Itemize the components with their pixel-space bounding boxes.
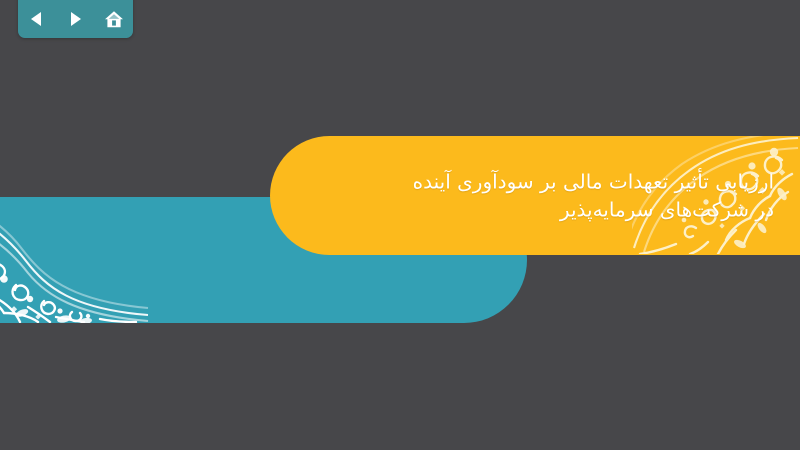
slide-title: ارزیابی تأثیر تعهدات مالی بر سودآوری آین…	[340, 167, 774, 224]
back-triangle-icon	[28, 10, 46, 28]
slide-title-line-2: در شرکت‌های سرمایه‌پذیر	[340, 196, 774, 224]
home-button[interactable]	[101, 7, 127, 31]
slide-title-line-1: ارزیابی تأثیر تعهدات مالی بر سودآوری آین…	[340, 167, 774, 195]
forward-triangle-icon	[66, 10, 84, 28]
arabesque-corner-ornament	[0, 197, 150, 323]
title-banner: ارزیابی تأثیر تعهدات مالی بر سودآوری آین…	[270, 136, 800, 255]
forward-button[interactable]	[62, 7, 88, 31]
back-button[interactable]	[24, 7, 50, 31]
slide-canvas: ارزیابی تأثیر تعهدات مالی بر سودآوری آین…	[0, 0, 800, 450]
home-icon	[104, 10, 124, 29]
navigation-bar	[18, 0, 133, 38]
